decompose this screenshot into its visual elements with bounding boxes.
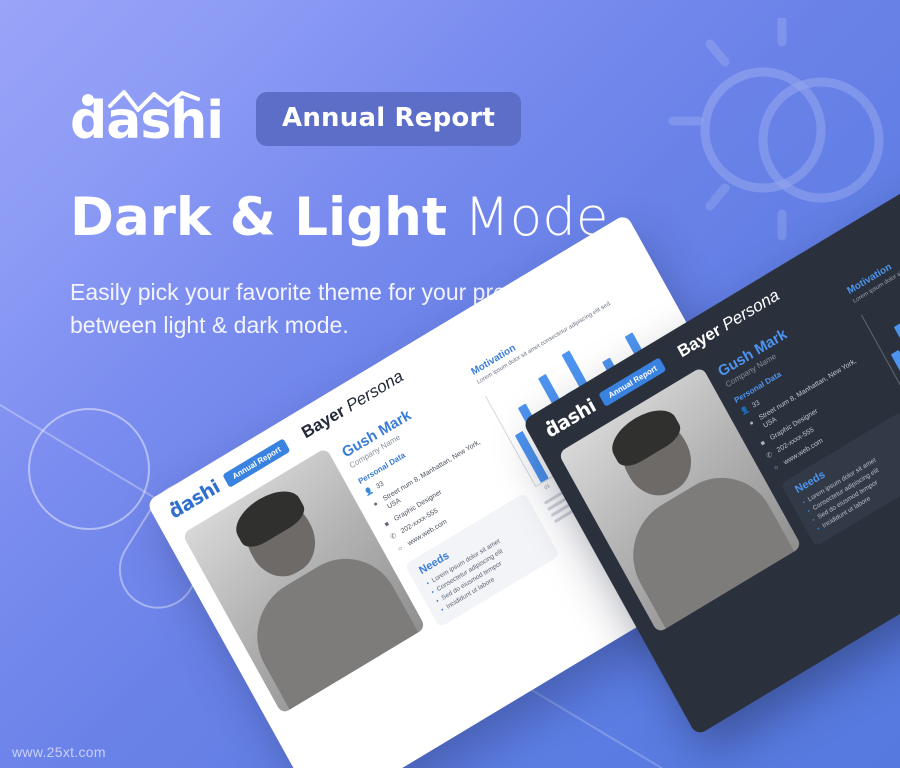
dashi-logo-dot-icon — [82, 94, 94, 106]
zigzag-icon — [108, 88, 200, 114]
info-value: 33 — [375, 480, 386, 492]
annual-report-badge[interactable]: Annual Report — [256, 92, 521, 146]
pin-icon: ● — [746, 418, 757, 430]
brand-row: dashi Annual Report — [70, 90, 690, 148]
globe-icon: ○ — [771, 462, 782, 474]
sun-circles-icon — [655, 18, 900, 248]
person-icon: 👤 — [739, 405, 750, 417]
pin-icon: ● — [370, 499, 381, 511]
bar-chart-bar — [891, 350, 900, 401]
watermark: www.25xt.com — [12, 744, 106, 760]
globe-icon: ○ — [395, 543, 406, 555]
briefcase-icon: ■ — [382, 519, 393, 531]
briefcase-icon: ■ — [758, 438, 769, 450]
phone-icon: ✆ — [764, 450, 775, 462]
person-icon: 👤 — [363, 486, 374, 498]
page-title-strong: Dark & Light — [70, 187, 447, 248]
info-value: 33 — [751, 399, 762, 411]
phone-icon: ✆ — [388, 531, 399, 543]
dashi-logo: dashi — [70, 90, 238, 148]
bar-chart-tick-label: 01 — [542, 482, 553, 492]
circle-outline-icon — [28, 408, 150, 530]
